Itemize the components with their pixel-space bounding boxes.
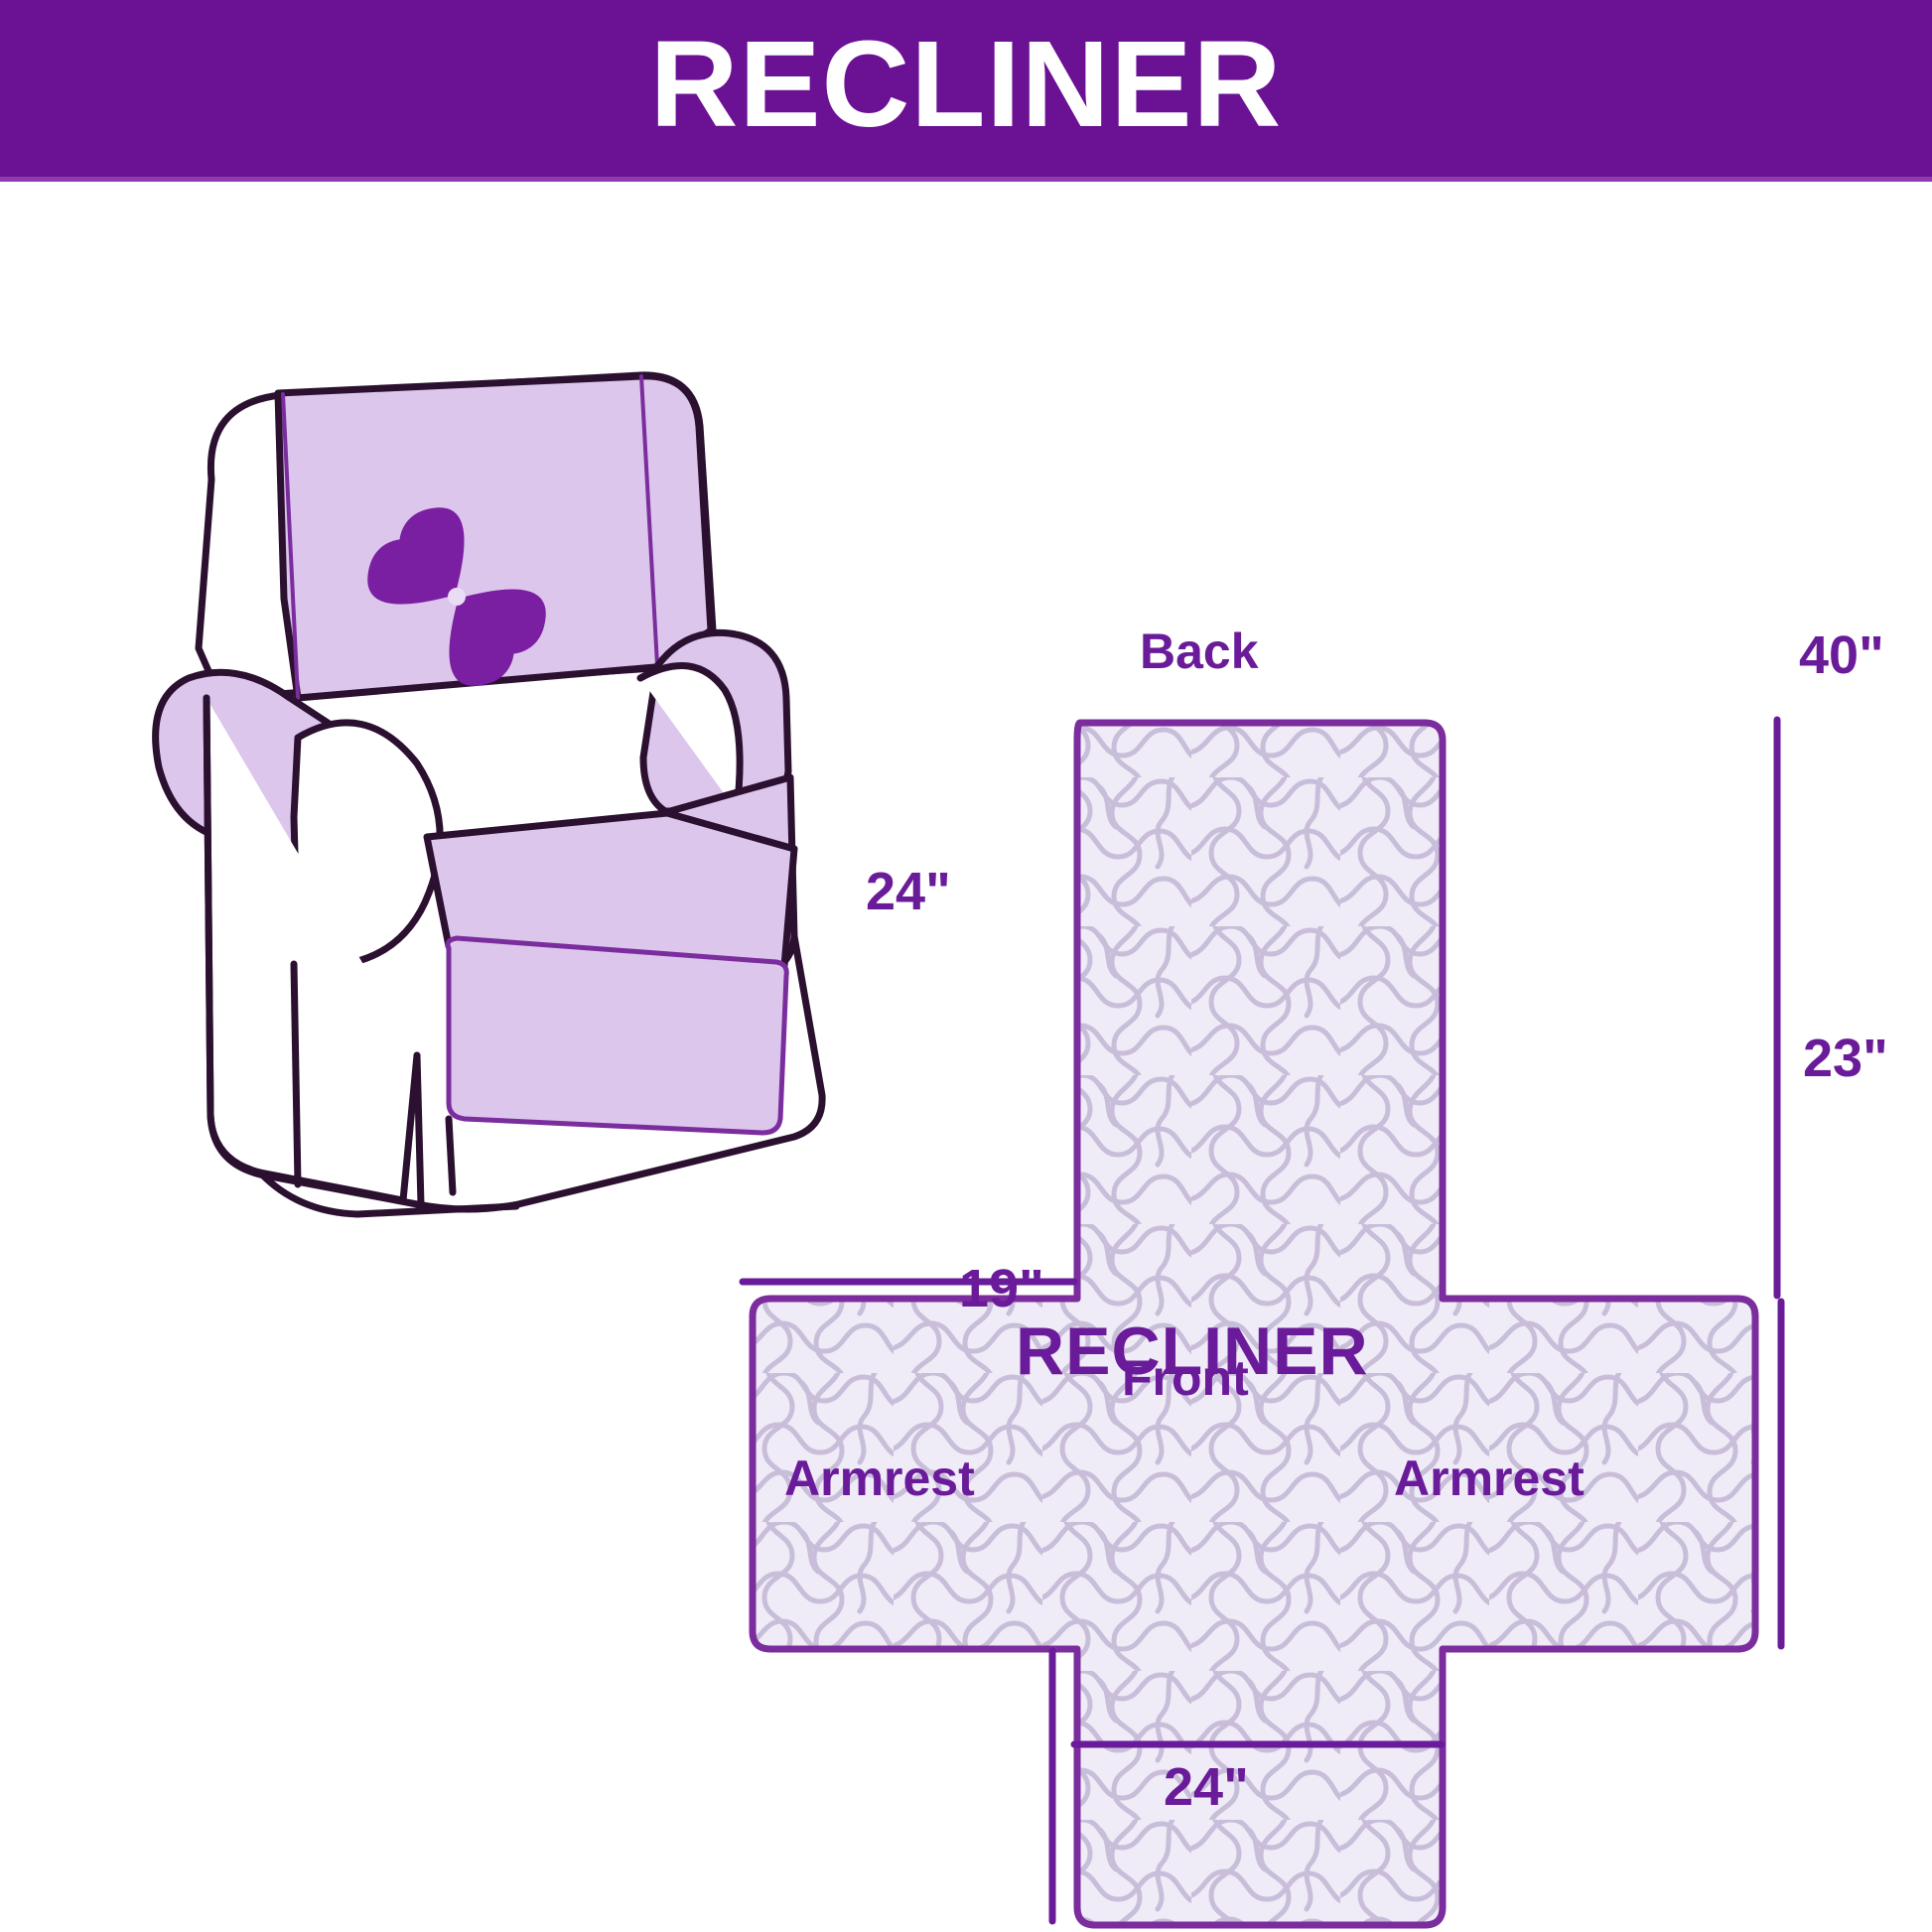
panel-label-armrest-left: Armrest xyxy=(784,1453,975,1503)
dimension-label-center-height: 23" xyxy=(1803,1032,1888,1085)
panel-label-back: Back xyxy=(1140,626,1259,676)
header-banner: RECLINER xyxy=(0,0,1932,177)
diagram-center-title: RECLINER xyxy=(1016,1317,1369,1385)
diagram-canvas xyxy=(0,182,1932,1932)
page-title: RECLINER xyxy=(0,0,1932,177)
content-area: Back Armrest Armrest Front RECLINER 40" … xyxy=(0,182,1932,1932)
chair-illustration xyxy=(156,375,823,1214)
dimension-label-front-height: 19" xyxy=(959,1262,1044,1315)
dimension-label-back-height: 40" xyxy=(1799,628,1884,682)
dimension-label-front-width: 24" xyxy=(1164,1760,1249,1814)
panel-label-armrest-right: Armrest xyxy=(1394,1453,1585,1503)
dimension-label-back-width: 24" xyxy=(866,865,951,918)
